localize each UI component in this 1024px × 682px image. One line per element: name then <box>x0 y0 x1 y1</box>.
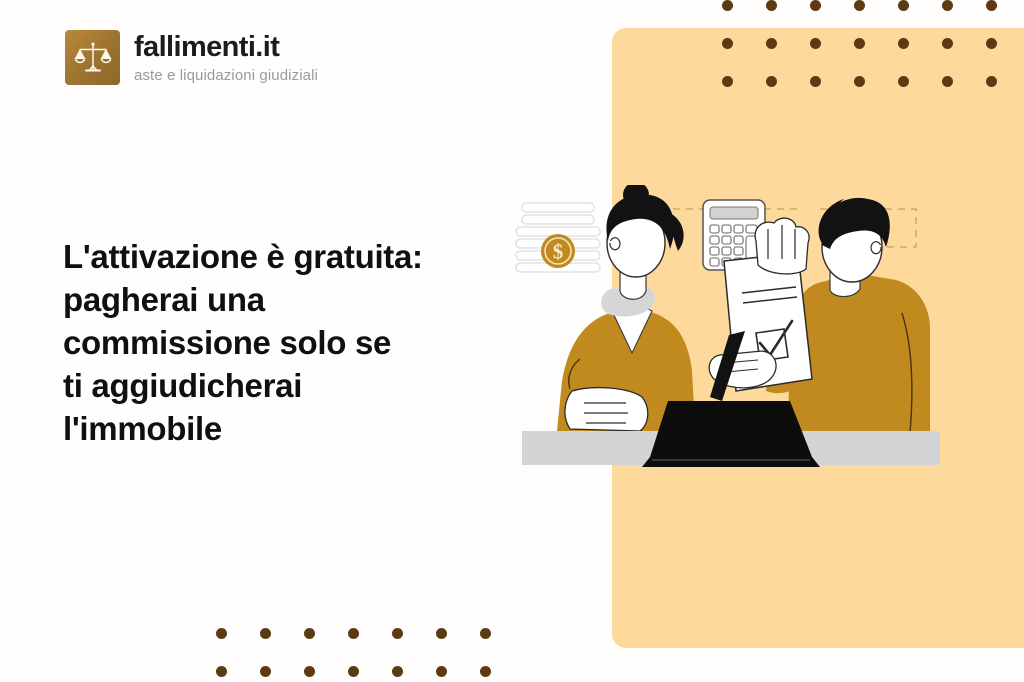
logo-title: fallimenti.it <box>134 33 318 62</box>
decorative-dot-grid-bottom <box>216 628 524 682</box>
dot <box>898 0 909 11</box>
dot <box>766 38 777 49</box>
dot <box>766 76 777 87</box>
dot <box>348 666 359 677</box>
page-title: L'attivazione è gratuita: pagherai una c… <box>63 236 483 450</box>
brand-logo[interactable]: fallimenti.it aste e liquidazioni giudiz… <box>65 30 318 85</box>
hero-illustration: $ <box>500 185 940 485</box>
dot <box>854 0 865 11</box>
dot <box>942 76 953 87</box>
dot <box>722 38 733 49</box>
dot <box>942 38 953 49</box>
dot <box>260 628 271 639</box>
laptop-icon <box>642 401 820 467</box>
dot <box>986 38 997 49</box>
dot <box>304 628 315 639</box>
decorative-dot-grid-top <box>722 0 1024 114</box>
dot <box>810 0 821 11</box>
dot <box>810 38 821 49</box>
dot <box>986 0 997 11</box>
dot <box>810 76 821 87</box>
hand-top-icon <box>755 218 809 274</box>
dollar-coin-icon: $ <box>541 234 575 268</box>
dot <box>348 628 359 639</box>
dot <box>216 666 227 677</box>
dot <box>436 628 447 639</box>
dot <box>854 76 865 87</box>
scales-of-justice-icon <box>65 30 120 85</box>
dot <box>392 628 403 639</box>
dot <box>854 38 865 49</box>
dot <box>480 666 491 677</box>
dot <box>216 628 227 639</box>
dot <box>260 666 271 677</box>
dot <box>304 666 315 677</box>
dot <box>436 666 447 677</box>
dot <box>722 76 733 87</box>
dot <box>766 0 777 11</box>
logo-subtitle: aste e liquidazioni giudiziali <box>134 68 318 83</box>
dot <box>942 0 953 11</box>
dot <box>392 666 403 677</box>
dot <box>898 38 909 49</box>
dot <box>722 0 733 11</box>
banner-stage: fallimenti.it aste e liquidazioni giudiz… <box>0 0 1024 682</box>
dot <box>986 76 997 87</box>
dot <box>480 628 491 639</box>
dot <box>898 76 909 87</box>
svg-text:$: $ <box>553 240 564 264</box>
